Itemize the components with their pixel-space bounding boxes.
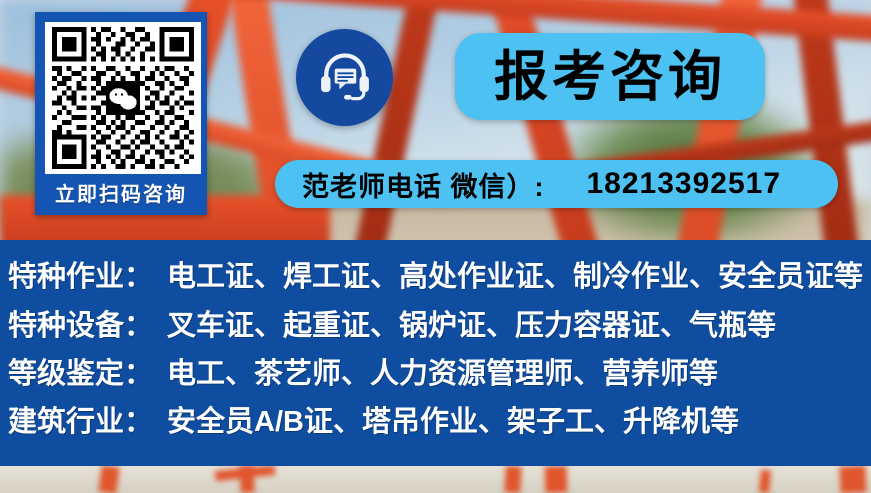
strip-beam — [98, 466, 120, 493]
phone-number[interactable]: 18213392517 — [587, 167, 782, 201]
course-line-value: 叉车证、起重证、锅炉证、压力容器证、气瓶等 — [167, 310, 776, 342]
course-line: 特种设备：叉车证、起重证、锅炉证、压力容器证、气瓶等 — [8, 312, 776, 341]
course-line-label: 特种设备： — [8, 310, 153, 342]
qr-caption: 立即扫码咨询 — [39, 178, 203, 207]
course-line-value: 电工证、焊工证、高处作业证、制冷作业、安全员证等 — [167, 261, 863, 293]
course-line: 特种作业：电工证、焊工证、高处作业证、制冷作业、安全员证等 — [8, 263, 863, 292]
headset-support-badge[interactable] — [296, 29, 393, 126]
phone-pill[interactable]: 范老师电话 微信）: 18213392517 — [275, 160, 838, 208]
strip-beam — [759, 470, 771, 493]
promo-poster: 立即扫码咨询 报考咨询 范老师电话 微信）: 18213392517 特种作业：… — [0, 0, 871, 493]
course-list-panel: 特种作业：电工证、焊工证、高处作业证、制冷作业、安全员证等 特种设备：叉车证、起… — [0, 240, 871, 466]
course-line-value: 电工、茶艺师、人力资源管理师、营养师等 — [167, 358, 718, 390]
bottom-photo-strip — [0, 466, 871, 493]
qr-code-card[interactable]: 立即扫码咨询 — [35, 12, 207, 215]
strip-beam — [504, 466, 521, 493]
qr-code-icon — [52, 27, 194, 169]
qr-code-image — [45, 22, 201, 174]
strip-beam — [839, 466, 866, 493]
course-line-value: 安全员A/B证、塔吊作业、架子工、升降机等 — [167, 406, 739, 438]
course-line: 建筑行业：安全员A/B证、塔吊作业、架子工、升降机等 — [8, 408, 739, 437]
strip-beam — [545, 466, 568, 493]
course-line: 等级鉴定：电工、茶艺师、人力资源管理师、营养师等 — [8, 360, 718, 389]
course-line-label: 特种作业： — [8, 261, 153, 293]
strip-beam — [239, 466, 255, 493]
headset-support-icon — [315, 48, 375, 108]
title-pill-text: 报考咨询 — [494, 50, 726, 104]
course-line-label: 建筑行业： — [8, 406, 153, 438]
title-pill[interactable]: 报考咨询 — [455, 33, 765, 120]
course-line-label: 等级鉴定： — [8, 358, 153, 390]
phone-label: 范老师电话 微信）: — [302, 165, 545, 204]
